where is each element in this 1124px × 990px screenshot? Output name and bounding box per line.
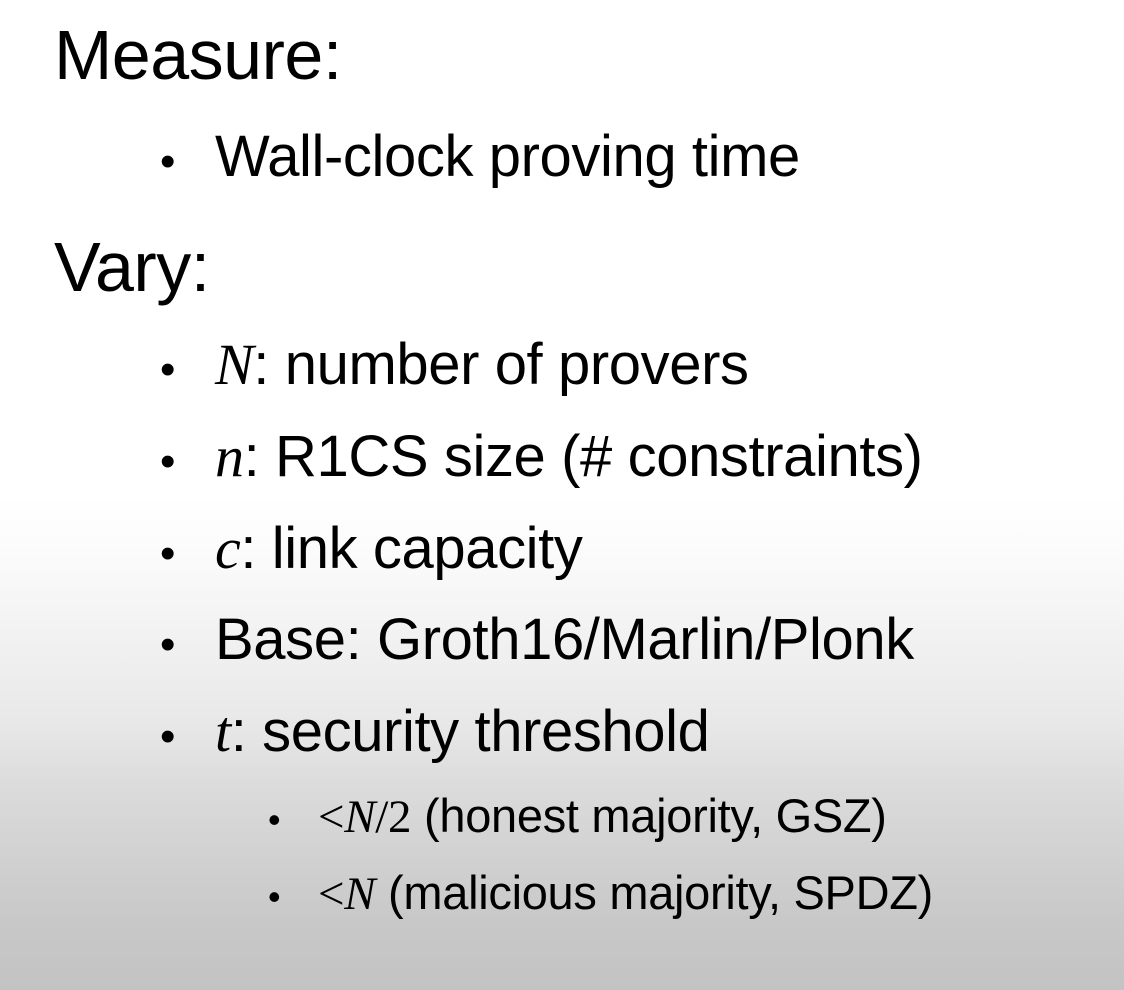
sub-bullet-item-honest-majority: • <N/2 (honest majority, GSZ) [268,792,887,841]
math-variable: t [215,699,231,764]
math-variable: N [344,868,375,920]
math-operator: < [318,868,344,920]
bullet-point-icon: • [160,532,215,576]
math-variable: N [344,791,375,843]
bullet-item-wall-clock: • Wall-clock proving time [160,128,800,186]
bullet-item-link-capacity: • c: link capacity [160,520,583,578]
plain-text: : number of provers [253,332,748,397]
math-variable: N [215,332,253,397]
bullet-point-icon: • [160,348,215,392]
heading-measure: Measure: [54,20,342,90]
heading-vary: Vary: [54,232,210,302]
slide-canvas: Measure: • Wall-clock proving time Vary:… [0,0,1124,990]
sub-bullet-item-malicious-majority: • <N (malicious majority, SPDZ) [268,869,933,918]
bullet-item-r1cs-size: • n: R1CS size (# constraints) [160,428,923,486]
math-variable: c [215,516,240,581]
bullet-point-icon: • [160,440,215,484]
bullet-point-icon: • [268,879,318,915]
plain-text: : link capacity [240,516,582,581]
plain-text: (honest majority, GSZ) [411,789,886,842]
bullet-item-security-threshold: • t: security threshold [160,703,710,761]
plain-text: : security threshold [231,699,710,764]
math-operator: < [318,791,344,843]
math-operator: /2 [375,791,411,843]
bullet-item-base-schemes: • Base: Groth16/Marlin/Plonk [160,611,914,669]
bullet-point-icon: • [160,623,215,667]
bullet-text: Base: Groth16/Marlin/Plonk [215,611,914,669]
plain-text: Base: Groth16/Marlin/Plonk [215,607,914,672]
plain-text: : R1CS size (# constraints) [244,424,923,489]
bullet-text: c: link capacity [215,520,583,578]
sub-bullet-text: <N (malicious majority, SPDZ) [318,869,933,918]
plain-text: (malicious majority, SPDZ) [375,866,933,919]
bullet-point-icon: • [160,715,215,759]
bullet-point-icon: • [160,140,215,184]
bullet-text: n: R1CS size (# constraints) [215,428,923,486]
sub-bullet-text: <N/2 (honest majority, GSZ) [318,792,887,841]
bullet-text: Wall-clock proving time [215,128,800,186]
bullet-point-icon: • [268,802,318,838]
bullet-text: t: security threshold [215,703,710,761]
bullet-item-n-provers: • N: number of provers [160,336,749,394]
plain-text: Wall-clock proving time [215,124,800,189]
math-variable: n [215,424,244,489]
bullet-text: N: number of provers [215,336,749,394]
